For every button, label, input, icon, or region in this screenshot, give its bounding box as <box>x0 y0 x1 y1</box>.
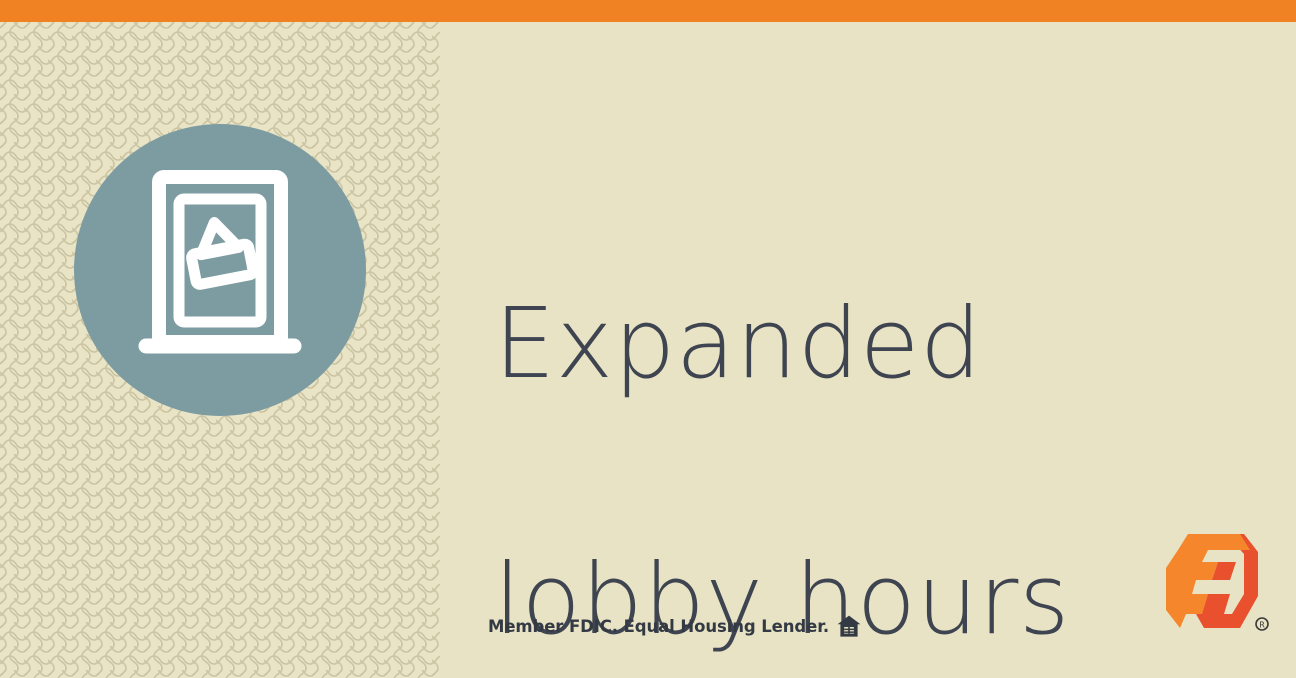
headline-line-1: Expanded <box>494 280 1234 408</box>
svg-text:R: R <box>1259 620 1265 629</box>
promo-banner: Expanded lobby hours Member FDIC. Equal … <box>0 0 1296 678</box>
top-accent-bar <box>0 0 1296 22</box>
brand-logo: R <box>1152 528 1272 640</box>
first-interstate-bank-logo-icon: R <box>1152 528 1272 640</box>
headline-line-2: lobby hours <box>494 536 1234 664</box>
equal-housing-lender-icon <box>836 614 862 639</box>
disclosure-text: Member FDIC. Equal Housing Lender. <box>488 617 829 636</box>
page-title: Expanded lobby hours <box>494 152 1234 678</box>
door-with-open-sign-icon <box>74 124 366 416</box>
legal-disclosure: Member FDIC. Equal Housing Lender. <box>488 614 862 639</box>
door-badge <box>74 124 366 416</box>
